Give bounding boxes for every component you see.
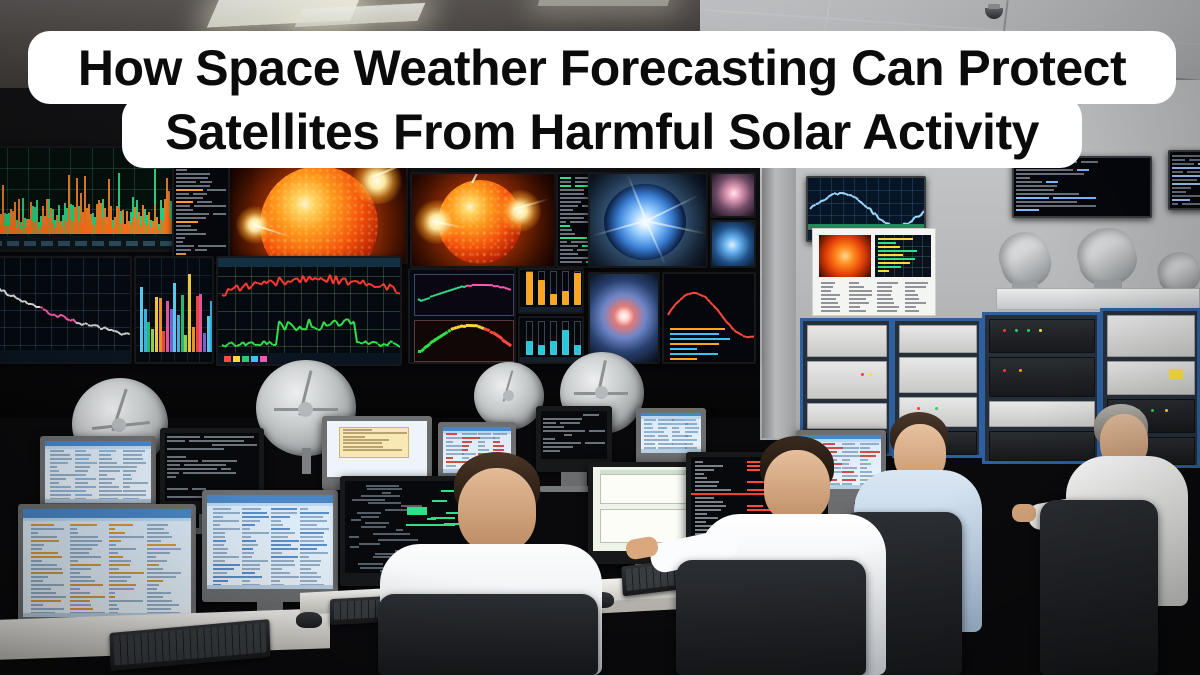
videowall-panel-orbit-track-map [662, 272, 756, 364]
parabolic-dish-mid [474, 362, 544, 430]
equipment-shelf [996, 288, 1200, 310]
control-room-photo: How Space Weather Forecasting Can Protec… [0, 0, 1200, 675]
title-line-1: How Space Weather Forecasting Can Protec… [28, 31, 1176, 104]
office-chair [378, 594, 598, 675]
office-chair [676, 560, 866, 675]
videowall-panel-red-green-timeseries [216, 256, 402, 366]
videowall-panel-green-red-curves [408, 268, 516, 364]
monitor-spreadsheet-1 [18, 504, 196, 630]
head [764, 450, 830, 522]
mouse[interactable] [296, 612, 322, 628]
title-line-2: Satellites From Harmful Solar Activity [122, 96, 1082, 168]
videowall-panel-decay-curve-plot [0, 256, 132, 364]
office-chair [1040, 500, 1158, 675]
head [458, 468, 536, 552]
monitor-spreadsheet-2 [202, 490, 338, 602]
videowall-panel-solar-poster-panel [812, 228, 936, 316]
horn-antenna-2 [1078, 228, 1136, 286]
title-overlay: How Space Weather Forecasting Can Protec… [0, 0, 1200, 200]
videowall-panel-spectrum-bars-rainbow [134, 256, 214, 364]
videowall-panel-gauge-bars-orange [518, 268, 584, 314]
videowall-panel-nebula-thumb-cool [710, 220, 756, 268]
videowall-panel-vortex-imagery [588, 272, 660, 364]
horn-antenna-1 [1000, 232, 1050, 288]
